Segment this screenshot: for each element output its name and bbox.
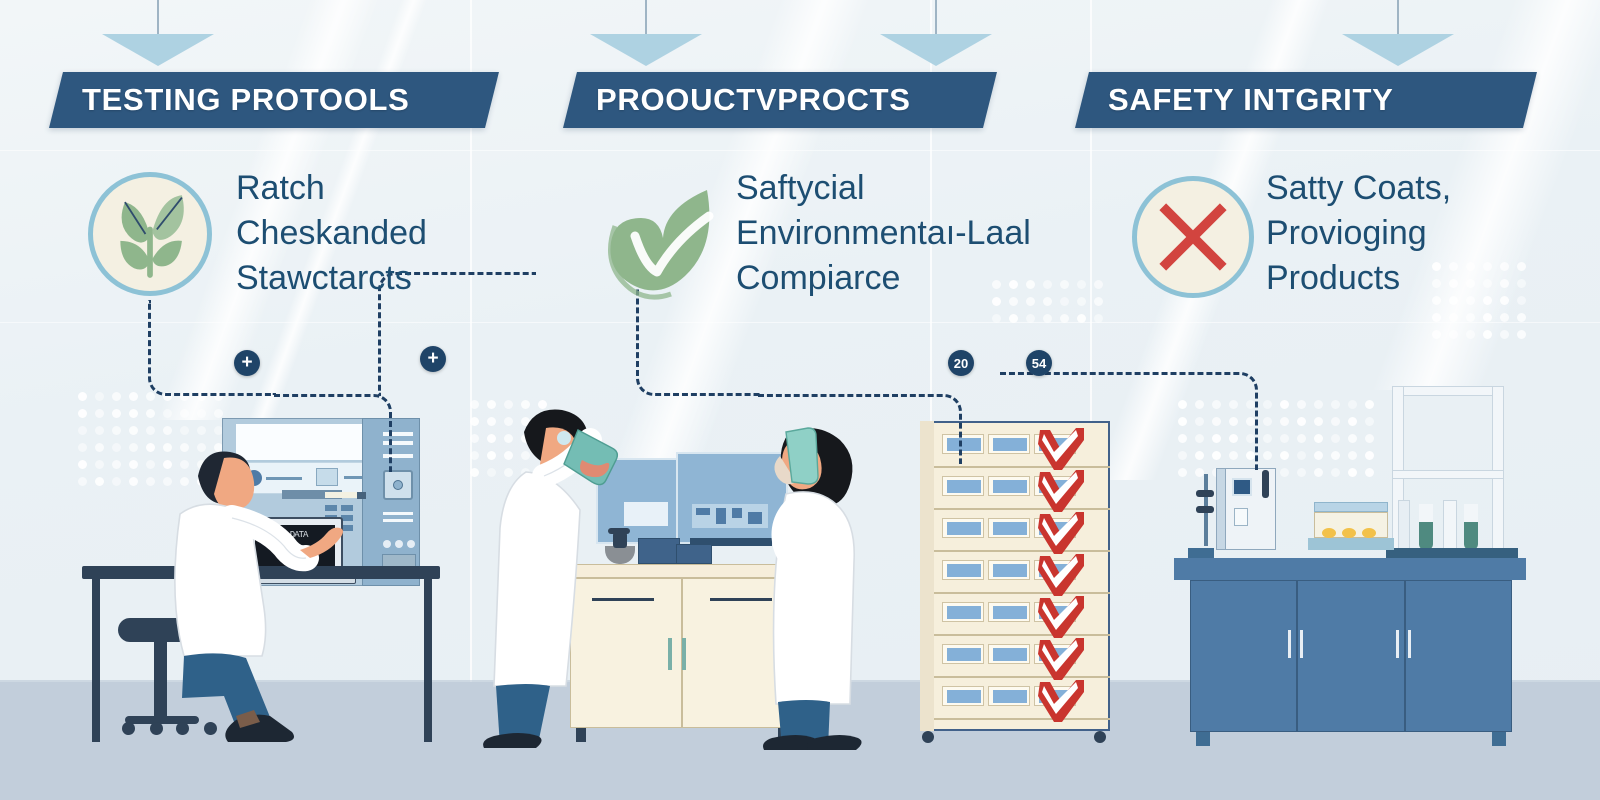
stand-base	[1188, 548, 1214, 558]
banner-products-label: PROOUCTVPROCTS	[570, 72, 990, 128]
sample-tray-b	[676, 544, 712, 564]
scientist-right	[746, 420, 896, 748]
control-instrument-label	[1234, 508, 1248, 526]
monitor-block-3	[732, 508, 742, 518]
scientist-hand	[300, 528, 343, 558]
badge-20[interactable]: 20	[948, 350, 974, 376]
leaf-check-icon[interactable]	[596, 180, 722, 300]
stool-caster-1	[122, 722, 135, 735]
stand-clamp-2	[1196, 506, 1214, 513]
cabinet-drawer[interactable]	[942, 686, 984, 706]
shelf-mid-rail	[1392, 470, 1504, 479]
cabinet-drawer[interactable]	[988, 476, 1030, 496]
cabinet-drawer-label	[947, 480, 981, 493]
blue-bench-foot-left	[1196, 732, 1210, 746]
scientist-left-goggle	[557, 431, 571, 445]
monitor-block-2	[716, 508, 726, 524]
control-instrument-side	[1216, 468, 1226, 550]
cabinet-drawer[interactable]	[942, 518, 984, 538]
records-cabinet-side	[920, 421, 934, 731]
test-tube-2	[1443, 500, 1457, 550]
blue-bench-handle-4	[1408, 630, 1411, 658]
scientist-left	[482, 404, 652, 748]
lamp-shade	[880, 34, 992, 66]
lab-bench-leg-right	[424, 579, 432, 742]
cabinet-checkmark-icon	[1036, 470, 1084, 514]
tower-line-4	[383, 512, 413, 515]
connector-testing-a	[148, 300, 276, 396]
cabinet-drawer-label	[993, 648, 1027, 661]
lamp-shade	[102, 34, 214, 66]
cabinet-drawer[interactable]	[988, 686, 1030, 706]
control-probe	[1262, 470, 1269, 498]
shelf-top-rail	[1392, 386, 1504, 396]
test-tube-4	[1398, 500, 1410, 550]
blurb-safety: Satty Coats, Provioging Products	[1266, 166, 1566, 301]
cabinet-handle-left	[668, 638, 672, 670]
blue-bench-handle-1	[1288, 630, 1291, 658]
cabinet-drawer-label	[993, 522, 1027, 535]
cabinet-drawer-label	[993, 564, 1027, 577]
seated-scientist	[140, 440, 360, 750]
banner-products[interactable]: PROOUCTVPROCTS	[563, 72, 997, 128]
blue-bench-split-1	[1296, 580, 1298, 732]
cabinet-drawer-label	[947, 606, 981, 619]
tower-led-1	[383, 540, 391, 548]
lab-bench-leg-left	[92, 579, 100, 742]
cabinet-drawer[interactable]	[942, 602, 984, 622]
test-tube-1-cap	[1419, 504, 1433, 522]
cabinet-checkmark-icon	[1036, 512, 1084, 556]
banner-testing-label: TESTING PROTOOLS	[56, 72, 492, 128]
cabinet-checkmark-icon	[1036, 596, 1084, 640]
cabinet-drawer-label	[947, 648, 981, 661]
incubator-base	[1308, 538, 1394, 550]
blurb-products: Saftycial Environmentaı-Laal Compiarce	[736, 166, 1066, 301]
scientist-left-shoe	[483, 733, 541, 748]
banner-safety-label: SAFETY INTGRITY	[1082, 72, 1530, 128]
badge-plus-2[interactable]: +	[420, 346, 446, 372]
blue-bench-handle-3	[1396, 630, 1399, 658]
cabinet-drawer[interactable]	[942, 560, 984, 580]
connector-products-b	[758, 394, 962, 464]
cabinet-checkmark-icon	[1036, 638, 1084, 682]
incubator-sample-3	[1362, 528, 1376, 538]
blue-bench-foot-right	[1492, 732, 1506, 746]
cabinet-checkmark-icon	[1036, 554, 1084, 598]
blurb-testing: Ratch Cheskanded Stawctarcts	[236, 166, 476, 301]
lamp-shade	[1342, 34, 1454, 66]
connector-testing-b	[274, 394, 392, 472]
tower-led-3	[407, 540, 415, 548]
badge-plus-1[interactable]: +	[234, 350, 260, 376]
cabinet-drawer-label	[993, 690, 1027, 703]
monitor-block-1	[696, 508, 710, 515]
cabinet-drawer[interactable]	[988, 518, 1030, 538]
cross-x-icon[interactable]	[1132, 176, 1254, 298]
wall-line-upper	[0, 150, 1600, 151]
blue-bench-handle-2	[1300, 630, 1303, 658]
banner-testing[interactable]: TESTING PROTOOLS	[49, 72, 499, 128]
records-cabinet-caster-left	[922, 731, 934, 743]
incubator-sample-2	[1342, 528, 1356, 538]
infographic-canvas: REPORT DATA	[0, 0, 1600, 800]
cabinet-drawer-label	[993, 606, 1027, 619]
cabinet-drawer-label	[993, 480, 1027, 493]
incubator-lid	[1314, 502, 1388, 512]
incubator-sample-1	[1322, 528, 1336, 538]
connector-safety-a	[1000, 372, 1258, 470]
cabinet-drawer-label	[947, 690, 981, 703]
cabinet-checkmark-icon	[1036, 680, 1084, 724]
tower-line-5	[383, 519, 413, 522]
test-tube-3-cap	[1464, 504, 1478, 522]
blue-bench-split-2	[1404, 580, 1406, 732]
records-cabinet-caster-right	[1094, 731, 1106, 743]
cabinet-drawer[interactable]	[942, 644, 984, 664]
leaf-plant-icon[interactable]	[88, 172, 212, 296]
scientist-left-coat	[494, 472, 580, 686]
tower-knob-icon	[393, 480, 403, 490]
banner-safety[interactable]: SAFETY INTGRITY	[1075, 72, 1537, 128]
stand-clamp-1	[1196, 490, 1214, 497]
blue-bench-body	[1190, 580, 1512, 732]
badge-54[interactable]: 54	[1026, 350, 1052, 376]
control-instrument-screen	[1232, 478, 1252, 496]
cabinet-drawer[interactable]	[942, 476, 984, 496]
cabinet-drawer[interactable]	[988, 560, 1030, 580]
cabinet-drawer[interactable]	[988, 644, 1030, 664]
tower-led-2	[395, 540, 403, 548]
cabinet-drawer-label	[947, 564, 981, 577]
cabinet-drawer[interactable]	[988, 602, 1030, 622]
lamp-shade	[590, 34, 702, 66]
cabinet-handle-right	[682, 638, 686, 670]
cabinet-drawer-label	[947, 522, 981, 535]
blue-bench-top	[1174, 558, 1526, 580]
